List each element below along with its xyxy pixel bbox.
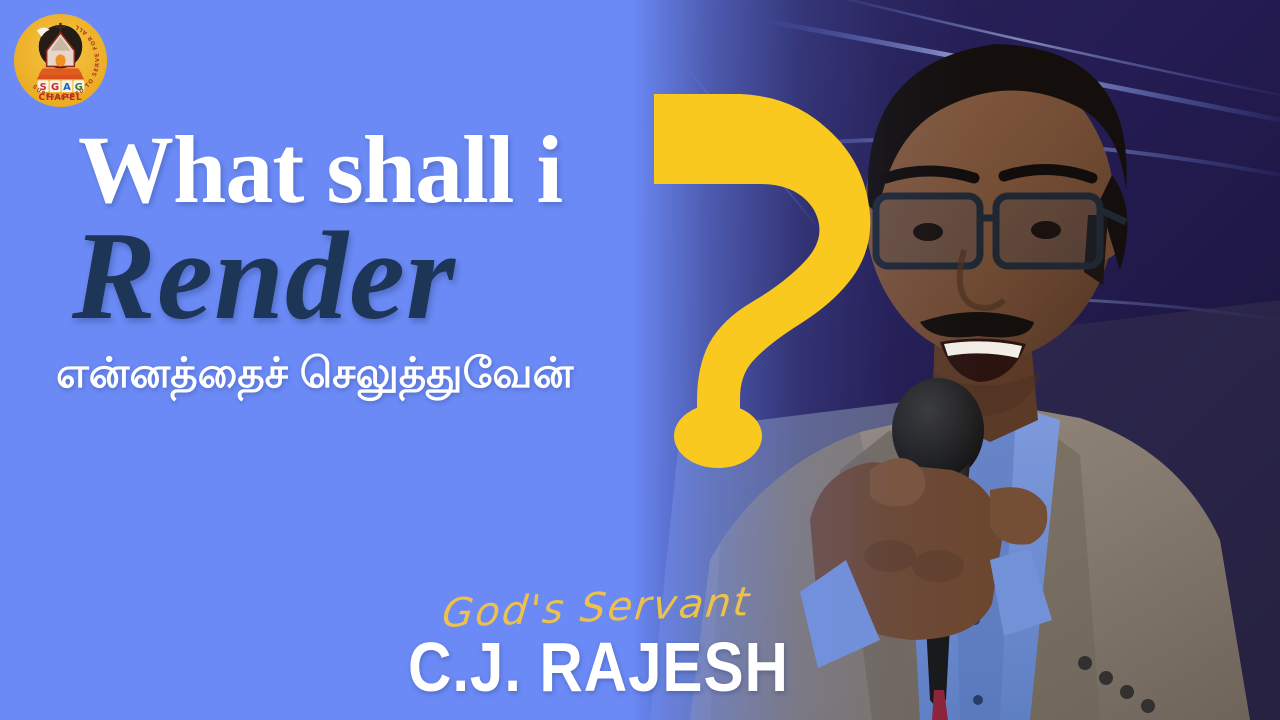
svg-text:A: A [63,82,71,93]
sgag-chapel-logo[interactable]: S G A G CHAPEL SURRENDERED TO SERVE FOR … [11,11,110,110]
thumbnail-canvas: S G A G CHAPEL SURRENDERED TO SERVE FOR … [0,0,1280,720]
headline-tamil-subtitle: என்னத்தைச் செலுத்துவேன் [56,350,718,396]
speaker-name-text: C.J. RAJESH [408,632,789,702]
question-mark-icon [648,88,878,468]
headline-line-1: What shall i [78,122,718,218]
speaker-eyebrow-text: God's Servant [441,582,754,634]
headline-group: What shall i Render என்னத்தைச் செலுத்துவ… [78,122,718,396]
headline-line-2: Render [72,214,718,340]
speaker-eyebrow: God's Servant [0,588,1237,628]
svg-text:G: G [51,82,59,93]
speaker-name: C.J. RAJESH [0,632,1238,702]
